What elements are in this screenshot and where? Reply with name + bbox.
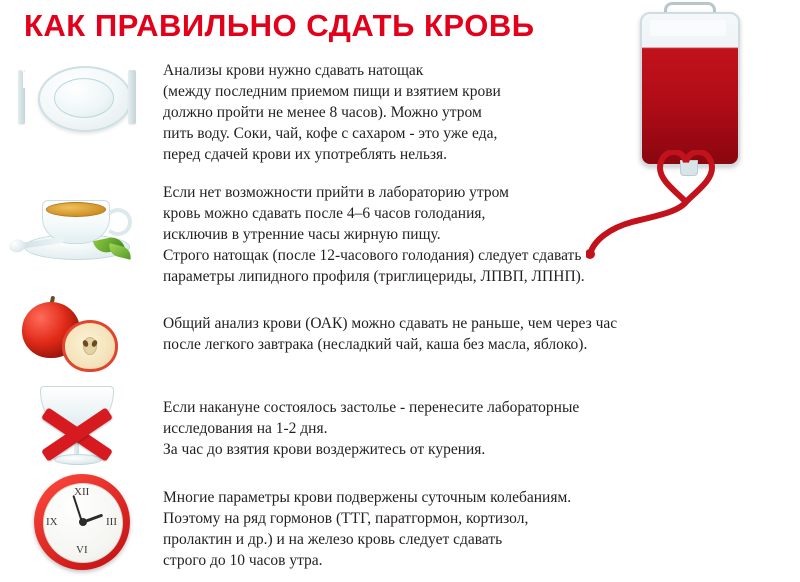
clock-numeral-xii: XII: [74, 486, 89, 498]
clock-center-pin: [79, 518, 87, 526]
advice-paragraph-5: Многие параметры крови подвержены суточн…: [163, 487, 571, 571]
advice-paragraph-1: Анализы крови нужно сдавать натощак (меж…: [163, 60, 501, 165]
page-title: КАК ПРАВИЛЬНО СДАТЬ КРОВЬ: [24, 8, 534, 44]
tea-liquid-shape: [46, 202, 106, 217]
blood-bag-illustration: [592, 0, 792, 260]
plate-shape: [38, 66, 132, 132]
no-alcohol-glass-icon: [8, 378, 143, 468]
plate-inner-shape: [54, 78, 114, 118]
blood-bag-label-shape: [650, 20, 726, 36]
plate-fork-knife-icon: [8, 58, 143, 148]
advice-paragraph-2: Если нет возможности прийти в лаборатори…: [163, 182, 585, 287]
advice-paragraph-4: Если накануне состоялось застолье - пере…: [163, 397, 579, 460]
fork-shape: [18, 70, 25, 124]
apple-icon: [8, 292, 143, 382]
knife-shape: [128, 70, 136, 124]
clock-numeral-iii: III: [106, 516, 117, 528]
tea-cup-icon: [8, 178, 143, 268]
glass-foot-shape: [54, 454, 102, 465]
clock-numeral-ix: IX: [46, 516, 58, 528]
cup-handle-shape: [104, 208, 132, 236]
clock-numeral-vi: VI: [76, 544, 88, 556]
clock-icon: XII III VI IX: [8, 470, 143, 560]
advice-paragraph-3: Общий анализ крови (ОАК) можно сдавать н…: [163, 313, 617, 355]
heart-shaped-tube-icon: [586, 150, 776, 260]
